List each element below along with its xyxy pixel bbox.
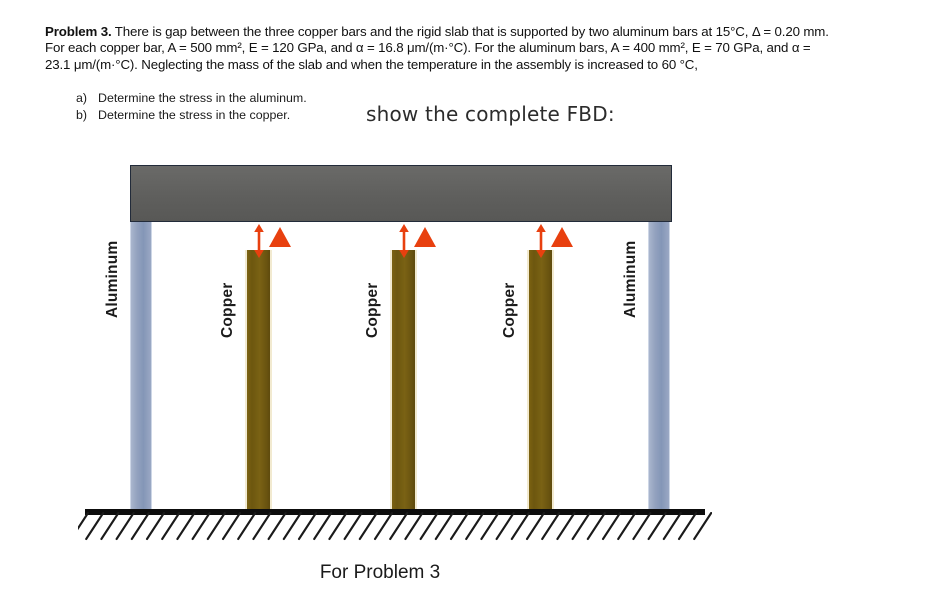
bar-label-aluminum-5: Aluminum bbox=[622, 241, 640, 318]
bar-copper-2 bbox=[245, 250, 272, 511]
bar-label-copper-3: Copper bbox=[364, 283, 382, 338]
gap-triangle-marker-3 bbox=[550, 226, 574, 248]
gap-triangle-marker-1 bbox=[268, 226, 292, 248]
gap-dimension-arrow-2 bbox=[396, 224, 412, 258]
rigid-slab bbox=[130, 165, 672, 222]
bar-copper-4 bbox=[527, 250, 554, 511]
figure-caption: For Problem 3 bbox=[0, 562, 760, 584]
gap-dimension-arrow-1 bbox=[251, 224, 267, 258]
bar-label-copper-2: Copper bbox=[219, 283, 237, 338]
bar-label-copper-4: Copper bbox=[501, 283, 519, 338]
gap-triangle-marker-2 bbox=[413, 226, 437, 248]
ground-hatching-icon bbox=[78, 512, 712, 548]
gap-dimension-arrow-3 bbox=[533, 224, 549, 258]
bar-aluminum-1 bbox=[130, 222, 152, 511]
assembly-diagram: AluminumCopperCopperCopperAluminum For P… bbox=[0, 0, 944, 607]
bar-aluminum-5 bbox=[648, 222, 670, 511]
bar-copper-3 bbox=[390, 250, 417, 511]
bar-label-aluminum-1: Aluminum bbox=[104, 241, 122, 318]
